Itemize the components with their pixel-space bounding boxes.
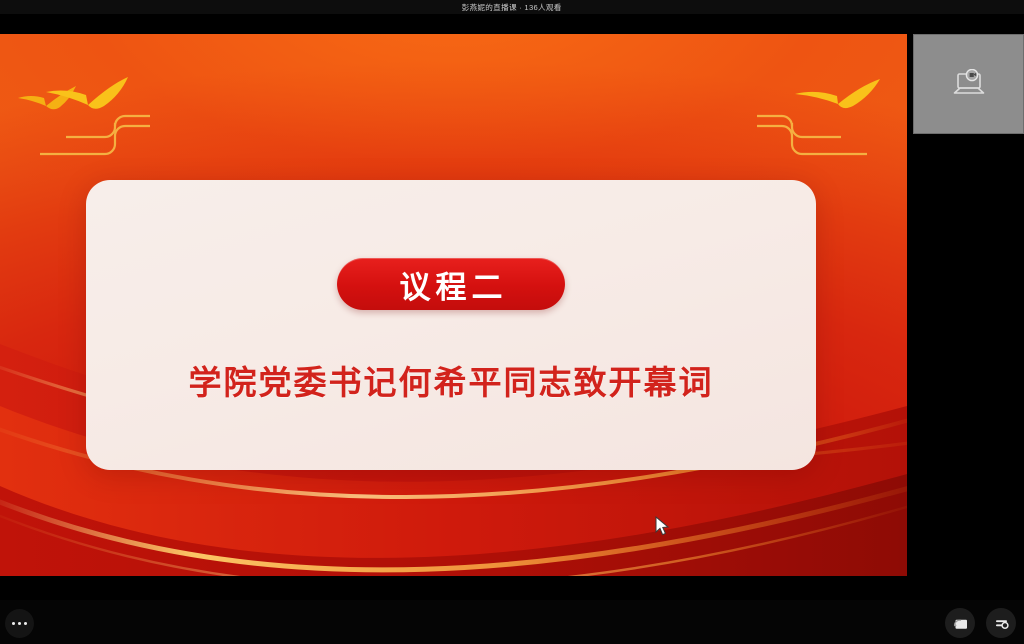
sliders-settings-icon xyxy=(993,616,1010,631)
screen-share-icon xyxy=(952,69,986,99)
meeting-toolbar xyxy=(0,600,1024,644)
window-title: 彭燕妮的直播课 · 136人观看 xyxy=(462,2,562,12)
agenda-badge: 议程二 xyxy=(337,258,565,310)
cloud-motif-left xyxy=(40,116,150,154)
self-view-tile[interactable] xyxy=(913,34,1024,134)
screen-share-icon xyxy=(952,616,969,631)
slide-content-card: 议程二 学院党委书记何希平同志致开幕词 xyxy=(86,180,816,470)
window-title-bar: 彭燕妮的直播课 · 136人观看 xyxy=(0,0,1024,14)
settings-button[interactable] xyxy=(986,608,1016,638)
more-options-button[interactable] xyxy=(5,609,34,638)
mouse-cursor xyxy=(655,516,670,537)
slide-headline: 学院党委书记何希平同志致开幕词 xyxy=(86,356,816,404)
meeting-window: 彭燕妮的直播课 · 136人观看 xyxy=(0,0,1024,644)
bird-icon-right xyxy=(795,79,880,108)
cloud-motif-right xyxy=(757,116,867,154)
shared-screen-area[interactable]: 议程二 学院党委书记何希平同志致开幕词 xyxy=(0,34,907,576)
presentation-slide: 议程二 学院党委书记何希平同志致开幕词 xyxy=(0,34,907,576)
bird-icon-left-1 xyxy=(18,86,76,109)
share-screen-button[interactable] xyxy=(945,608,975,638)
agenda-badge-label: 议程二 xyxy=(395,262,508,307)
meeting-stage: 议程二 学院党委书记何希平同志致开幕词 xyxy=(0,14,1024,600)
more-dots-icon xyxy=(12,622,28,626)
